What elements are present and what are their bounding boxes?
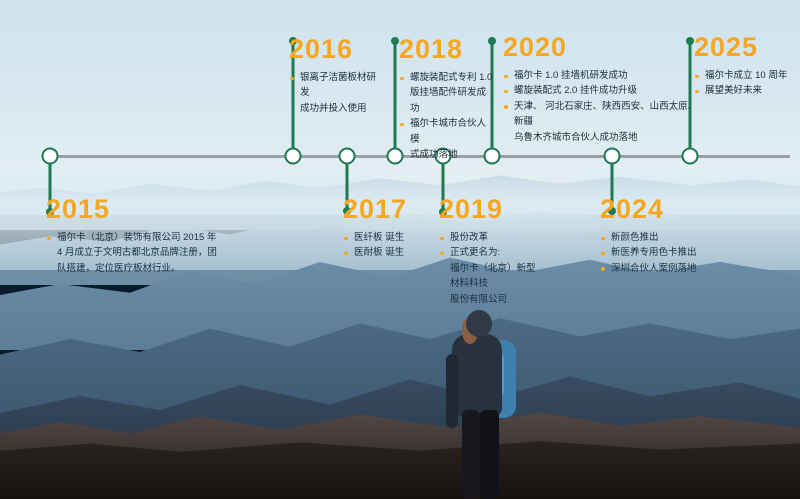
hiker-leg-right [480, 410, 499, 499]
timeline-endpoint-dot-2018 [391, 37, 399, 45]
timeline-entry-2024[interactable]: 2024新颜色推出新医养专用色卡推出深圳合伙人案例落地 [600, 196, 710, 276]
timeline-infographic: 2015福尔卡（北京）装饰有限公司 2015 年4 月成立于文明古都北京品牌注册… [0, 0, 800, 499]
timeline-bullet-list: 股份改革正式更名为:福尔卡（北京）新型材料科技股份有限公司 [439, 230, 539, 307]
timeline-entry-2015[interactable]: 2015福尔卡（北京）装饰有限公司 2015 年4 月成立于文明古都北京品牌注册… [46, 196, 221, 276]
timeline-bullet-list: 福尔卡（北京）装饰有限公司 2015 年4 月成立于文明古都北京品牌注册，团队搭… [46, 230, 221, 276]
hiker-leg-left [462, 410, 480, 498]
timeline-entry-2019[interactable]: 2019股份改革正式更名为:福尔卡（北京）新型材料科技股份有限公司 [439, 196, 539, 307]
timeline-bullet-list: 医纤板 诞生医耐板 诞生 [343, 230, 433, 261]
timeline-entry-2016[interactable]: 2016银离子洁菌板材研发成功并投入使用 [289, 36, 381, 116]
timeline-entry-2020[interactable]: 2020福尔卡 1.0 挂墙机研发成功螺旋装配式 2.0 挂件成功升级天津、 河… [503, 34, 698, 145]
timeline-bullet-item: 医耐板 诞生 [343, 245, 433, 260]
timeline-bullet-item: 版挂墙配件研发成功 [399, 85, 495, 116]
timeline-bullet-item: 福尔卡（北京）装饰有限公司 2015 年 [46, 230, 221, 245]
timeline-year-label: 2020 [503, 34, 698, 61]
timeline-bullet-item: 式成功落地 [399, 147, 495, 162]
timeline-bullet-item: 福尔卡（北京）新型材料科技 [439, 261, 539, 292]
timeline-bullet-item: 螺旋装配式 2.0 挂件成功升级 [503, 83, 698, 98]
hiker-arm [446, 354, 458, 428]
timeline-connector-2018 [394, 41, 397, 156]
timeline-bullet-item: 医纤板 诞生 [343, 230, 433, 245]
timeline-bullet-item: 深圳合伙人案例落地 [600, 261, 710, 276]
timeline-bullet-item: 福尔卡 1.0 挂墙机研发成功 [503, 68, 698, 83]
timeline-bullet-item: 福尔卡成立 10 周年 [694, 68, 794, 83]
timeline-bullet-list: 螺旋装配式专利 1.0版挂墙配件研发成功福尔卡城市合伙人模式成功落地 [399, 70, 495, 162]
timeline-year-label: 2019 [439, 196, 539, 223]
timeline-node-2015[interactable] [42, 148, 59, 165]
timeline-bullet-item: 天津、 河北石家庄、陕西西安、山西太原、新疆 [503, 99, 698, 130]
timeline-bullet-item: 展望美好未来 [694, 83, 794, 98]
timeline-year-label: 2025 [694, 34, 794, 61]
timeline-node-2024[interactable] [604, 148, 621, 165]
timeline-year-label: 2015 [46, 196, 221, 223]
timeline-year-label: 2024 [600, 196, 710, 223]
timeline-bullet-item: 股份有限公司 [439, 292, 539, 307]
timeline-bullet-item: 正式更名为: [439, 245, 539, 260]
timeline-entry-2017[interactable]: 2017医纤板 诞生医耐板 诞生 [343, 196, 433, 261]
timeline-bullet-item: 乌鲁木齐城市合伙人成功落地 [503, 130, 698, 145]
timeline-bullet-list: 福尔卡成立 10 周年展望美好未来 [694, 68, 794, 99]
timeline-bullet-list: 新颜色推出新医养专用色卡推出深圳合伙人案例落地 [600, 230, 710, 276]
timeline-entry-2018[interactable]: 2018螺旋装配式专利 1.0版挂墙配件研发成功福尔卡城市合伙人模式成功落地 [399, 36, 495, 162]
timeline-node-2016[interactable] [285, 148, 302, 165]
hiker-torso [452, 334, 502, 416]
timeline-bullet-item: 螺旋装配式专利 1.0 [399, 70, 495, 85]
timeline-node-2017[interactable] [339, 148, 356, 165]
timeline-year-label: 2018 [399, 36, 495, 63]
timeline-bullet-list: 福尔卡 1.0 挂墙机研发成功螺旋装配式 2.0 挂件成功升级天津、 河北石家庄… [503, 68, 698, 145]
timeline-bullet-item: 福尔卡城市合伙人模 [399, 116, 495, 147]
timeline-bullet-item: 4 月成立于文明古都北京品牌注册，团 [46, 245, 221, 260]
timeline-year-label: 2016 [289, 36, 381, 63]
hiker-head [466, 310, 492, 337]
timeline-bullet-item: 队搭建，定位医疗板材行业。 [46, 261, 221, 276]
timeline-node-2025[interactable] [682, 148, 699, 165]
timeline-bullet-item: 新医养专用色卡推出 [600, 245, 710, 260]
timeline-entry-2025[interactable]: 2025福尔卡成立 10 周年展望美好未来 [694, 34, 794, 99]
timeline-bullet-item: 成功并投入使用 [289, 101, 381, 116]
timeline-bullet-item: 新颜色推出 [600, 230, 710, 245]
timeline-year-label: 2017 [343, 196, 433, 223]
hiker-silhouette [428, 310, 548, 499]
timeline-bullet-item: 银离子洁菌板材研发 [289, 70, 381, 101]
timeline-bullet-item: 股份改革 [439, 230, 539, 245]
timeline-bullet-list: 银离子洁菌板材研发成功并投入使用 [289, 70, 381, 116]
